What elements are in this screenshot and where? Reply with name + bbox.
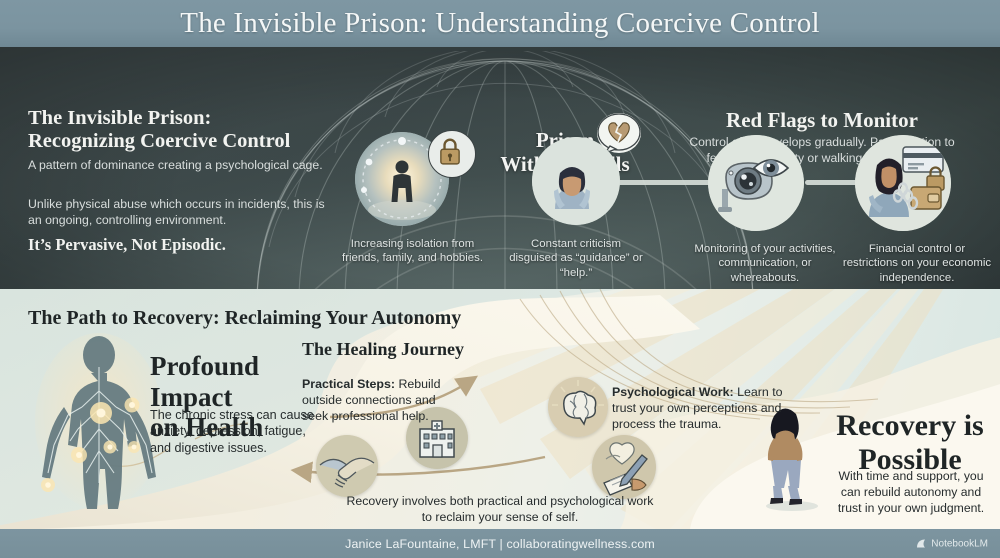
profound-impact-body: The chronic stress can cause anxiety, de…	[150, 407, 325, 456]
psychological-work-block: Psychological Work: Learn to trust your …	[612, 384, 797, 432]
handshake-icon	[316, 435, 378, 497]
connector-monitoring-to-financial	[805, 180, 860, 185]
recovery-section-title: The Path to Recovery: Reclaiming Your Au…	[28, 307, 461, 330]
header-bar: The Invisible Prison: Understanding Coer…	[0, 0, 1000, 47]
coercive-control-paragraph: Unlike physical abuse which occurs in in…	[28, 197, 328, 228]
coercive-control-panel: The Invisible Prison: Recognizing Coerci…	[0, 47, 1000, 289]
connector-criticism-to-monitoring	[612, 180, 722, 185]
notebooklm-logo-icon	[916, 538, 927, 549]
recovery-panel: The Path to Recovery: Reclaiming Your Au…	[0, 289, 1000, 529]
practical-steps-label: Practical Steps:	[302, 377, 395, 391]
node-caption: Constant criticism disguised as “guidanc…	[508, 237, 644, 280]
recovery-line-1: Recovery is	[836, 409, 983, 442]
footer-bar: Janice LaFountaine, LMFT | collaborating…	[0, 529, 1000, 558]
recovery-possible-body: With time and support, you can rebuild a…	[828, 469, 994, 517]
journaling-hand-heart-icon	[592, 435, 656, 499]
node-caption: Monitoring of your activities, communica…	[690, 242, 840, 285]
journey-caption: Recovery involves both practical and psy…	[340, 494, 660, 526]
practical-steps-block: Practical Steps: Rebuild outside connect…	[302, 376, 462, 424]
red-flags-heading: Red Flags to Monitor	[662, 109, 982, 133]
heading-line-2: Recognizing Coercive Control	[28, 130, 290, 152]
pervasive-emphasis: It’s Pervasive, Not Episodic.	[28, 235, 226, 255]
footer-credit: Janice LaFountaine, LMFT | collaborating…	[345, 537, 655, 551]
red-flags-title: Red Flags to Monitor	[662, 109, 982, 133]
node-caption: Financial control or restrictions on you…	[842, 242, 992, 285]
lock-badge-icon	[428, 130, 476, 178]
speech-bubble-icon	[597, 113, 641, 153]
impact-line-1: Profound Impact	[150, 351, 259, 412]
healing-journey-title: The Healing Journey	[302, 339, 464, 359]
infographic-poster: The Invisible Prison: Understanding Coer…	[0, 0, 1000, 558]
psychological-work-label: Psychological Work:	[612, 385, 734, 399]
coercive-control-heading: The Invisible Prison: Recognizing Coerci…	[28, 107, 338, 153]
notebooklm-brand: NotebookLM	[916, 538, 988, 549]
recovery-possible-title: Recovery is Possible	[830, 409, 990, 477]
brain-lightbulb-icon	[548, 377, 608, 437]
node-caption: Increasing isolation from friends, famil…	[340, 237, 485, 266]
financial-chains-wallet-icon	[855, 135, 951, 231]
brand-label: NotebookLM	[931, 538, 988, 549]
heading-line-1: The Invisible Prison:	[28, 107, 211, 129]
nervous-system-body-icon	[34, 333, 164, 519]
surveillance-camera-eye-icon	[708, 135, 804, 231]
page-title: The Invisible Prison: Understanding Coer…	[180, 7, 819, 40]
coercive-control-subtitle: A pattern of dominance creating a psycho…	[28, 158, 348, 174]
